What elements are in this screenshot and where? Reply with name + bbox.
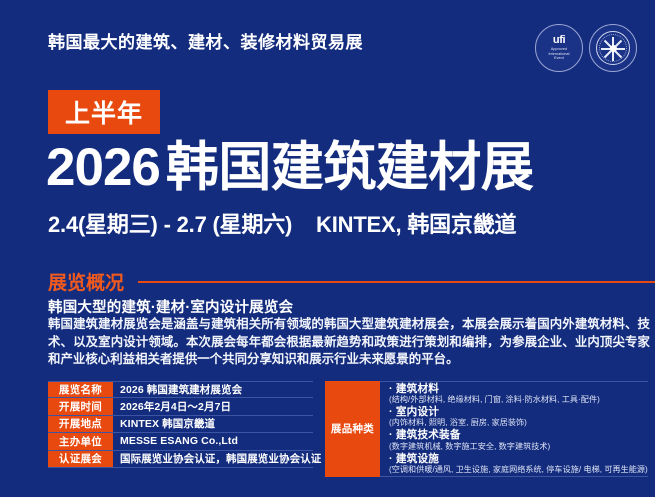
category-detail: (空调和供暖/通风, 卫生设施, 家庭网络系统, 停车设施/ 电梯, 可再生能源… [389, 465, 648, 475]
category-title: 室内设计 [389, 406, 648, 418]
table-row: 认证展会 国际展览业协会认证，韩国展览业协会认证 [48, 451, 313, 468]
event-date-venue: 2.4(星期三) - 2.7 (星期六) KINTEX, 韩国京畿道 [48, 207, 516, 239]
table-row: 主办单位 MESSE ESANG Co.,Ltd [48, 433, 313, 450]
certified-exhibition-seal-icon [589, 24, 637, 72]
category-detail: (内饰材料, 照明, 浴室, 厨房, 家居装饰) [389, 418, 648, 428]
seal-star-icon [600, 35, 626, 61]
tagline: 韩国最大的建筑、建材、装修材料贸易展 [48, 28, 363, 53]
category-title: 建筑设施 [389, 453, 648, 465]
exhibit-categories: 展品种类 建筑材料 (结构/外部材料, 绝缘材料, 门窗, 涂料·防水材料, 工… [325, 381, 647, 477]
category-title: 建筑材料 [389, 383, 648, 395]
title-text: 韩国建筑建材展 [166, 138, 534, 197]
table-row-value: KINTEX 韩国京畿道 [113, 416, 313, 432]
poster-root: 韩国最大的建筑、建材、装修材料贸易展 ufi Approved Internat… [0, 0, 655, 497]
section-divider [138, 281, 655, 283]
table-row-key: 主办单位 [48, 433, 113, 449]
category-detail: (结构/外部材料, 绝缘材料, 门窗, 涂料·防水材料, 工具·配件) [389, 395, 648, 405]
date-end: 2.7 (星期六) [177, 212, 293, 237]
table-row-value: 2026年2月4日～2月7日 [113, 398, 313, 414]
overview-section-header: 展览概况 [48, 268, 655, 295]
category-title: 建筑技术装备 [389, 429, 648, 441]
table-row: 开展地点 KINTEX 韩国京畿道 [48, 416, 313, 433]
table-row: 开展时间 2026年2月4日～2月7日 [48, 398, 313, 415]
table-row: 展览名称 2026 韩国建筑建材展览会 [48, 381, 313, 398]
date-dash: - [164, 212, 171, 237]
date-start: 2.4(星期三) [48, 212, 158, 237]
table-row-key: 开展时间 [48, 398, 113, 414]
half-year-badge-label: 上半年 [65, 94, 143, 130]
overview-description: 韩国建筑建材展览会是涵盖与建筑相关所有领域的韩国大型建筑建材展会，本展会展示着国… [48, 316, 650, 369]
venue-text: KINTEX, 韩国京畿道 [316, 212, 516, 237]
ufi-logo-icon: ufi Approved International Event [535, 24, 583, 72]
event-info-table: 展览名称 2026 韩国建筑建材展览会 开展时间 2026年2月4日～2月7日 … [48, 381, 313, 468]
section-title: 展览概况 [48, 268, 124, 295]
half-year-badge: 上半年 [48, 90, 160, 134]
table-row-value: MESSE ESANG Co.,Ltd [113, 433, 313, 449]
list-item: 建筑设施 (空调和供暖/通风, 卫生设施, 家庭网络系统, 停车设施/ 电梯, … [389, 452, 648, 475]
ufi-wordmark: ufi [553, 35, 565, 46]
ufi-line-3: Event [554, 56, 564, 60]
exhibit-categories-key: 展品种类 [325, 381, 380, 477]
list-item: 室内设计 (内饰材料, 照明, 浴室, 厨房, 家居装饰) [389, 405, 648, 428]
list-item: 建筑材料 (结构/外部材料, 绝缘材料, 门窗, 涂料·防水材料, 工具·配件) [389, 382, 648, 405]
table-row-value: 2026 韩国建筑建材展览会 [113, 382, 313, 397]
title-year: 2026 [46, 138, 160, 197]
list-item: 建筑技术装备 (数字建筑机械, 数字施工安全, 数字建筑技术) [389, 429, 648, 452]
table-row-key: 认证展会 [48, 451, 113, 467]
category-detail: (数字建筑机械, 数字施工安全, 数字建筑技术) [389, 442, 648, 452]
table-row-key: 展览名称 [48, 382, 113, 397]
table-row-key: 开展地点 [48, 416, 113, 432]
page-title: 2026韩国建筑建材展 [46, 140, 533, 196]
overview-subheading: 韩国大型的建筑·建材·室内设计展览会 [48, 296, 293, 317]
certification-logos: ufi Approved International Event [535, 24, 637, 72]
table-row-value: 国际展览业协会认证，韩国展览业协会认证 [113, 451, 321, 467]
exhibit-categories-list: 建筑材料 (结构/外部材料, 绝缘材料, 门窗, 涂料·防水材料, 工具·配件)… [380, 381, 648, 477]
